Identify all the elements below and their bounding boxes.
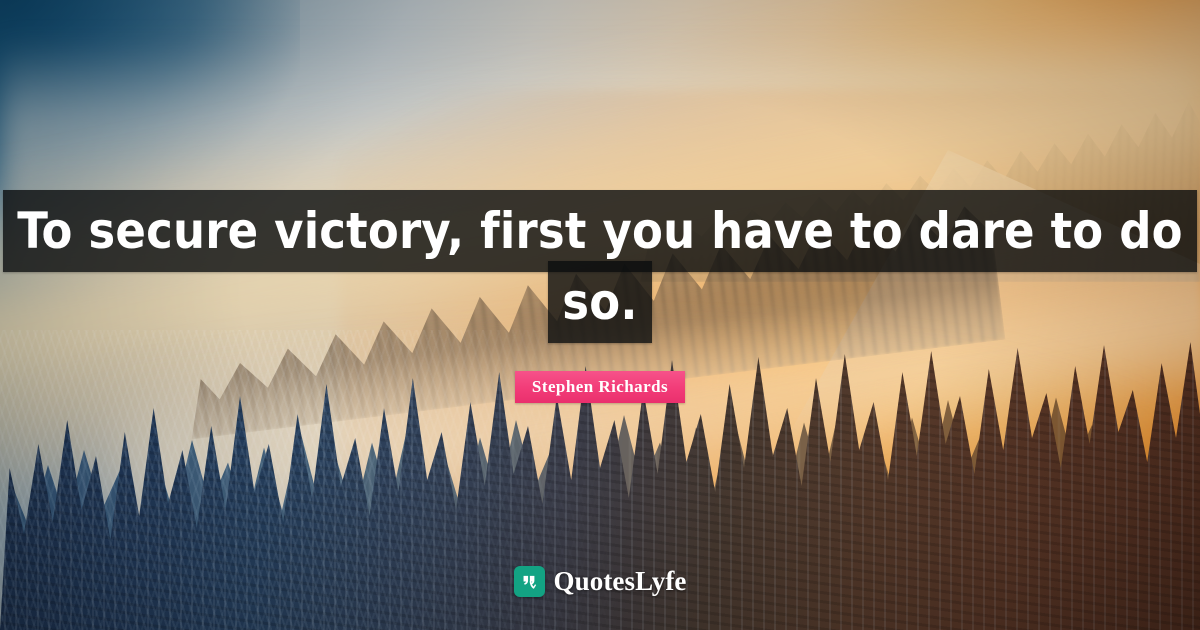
author-badge: Stephen Richards: [515, 371, 685, 403]
card-content: To secure victory, first you have to dar…: [0, 0, 1200, 630]
quote-block: To secure victory, first you have to dar…: [0, 196, 1200, 338]
author-row: Stephen Richards: [0, 371, 1200, 403]
quote-text: To secure victory, first you have to dar…: [3, 190, 1197, 343]
brand-name: QuotesLyfe: [554, 568, 687, 595]
brand-logo[interactable]: QuotesLyfe: [0, 566, 1200, 597]
quote-mark-icon: [514, 566, 545, 597]
quote-card: To secure victory, first you have to dar…: [0, 0, 1200, 630]
